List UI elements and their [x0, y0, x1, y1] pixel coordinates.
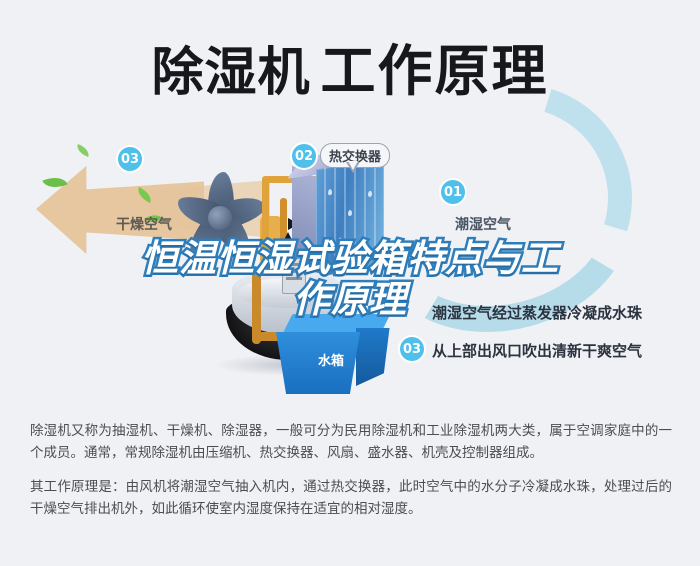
badge-step-03-right: 03 [400, 337, 424, 361]
page-title-part1: 除湿机 [151, 43, 310, 103]
moist-air-label: 潮湿空气 [455, 214, 511, 234]
step-03-description: 从上部出风口吹出清新干爽空气 [432, 340, 642, 361]
infographic-page: 除湿机工作原理 [0, 0, 700, 566]
badge-step-03-left: 03 [118, 147, 142, 171]
dry-air-label: 干燥空气 [116, 214, 172, 234]
page-title: 除湿机工作原理 [0, 26, 700, 106]
fan-icon [168, 166, 272, 270]
heat-exchanger-fins-icon [316, 159, 384, 278]
badge-step-01: 01 [441, 180, 465, 204]
water-tank-label: 水箱 [318, 350, 344, 369]
water-tank-side-icon [356, 328, 390, 386]
body-paragraph-2: 其工作原理是：由风机将潮湿空气抽入机内，通过热交换器，此时空气中的水分子冷凝成水… [30, 476, 672, 520]
step-02-description: 潮湿空气经过蒸发器冷凝成水珠 [432, 302, 642, 323]
dehumidifier-diagram: 水箱 03 干燥空气 02 热交换器 01 潮湿空气 潮湿空气经过蒸发器冷凝成水… [0, 118, 700, 408]
body-paragraph-1: 除湿机又称为抽湿机、干燥机、除湿器，一般可分为民用除湿机和工业除湿机两大类，属于… [30, 420, 672, 464]
controller-box-icon [282, 258, 306, 294]
callout-tail-inner-icon [348, 161, 358, 170]
leaf-icon [75, 144, 91, 157]
badge-step-02: 02 [292, 144, 316, 168]
